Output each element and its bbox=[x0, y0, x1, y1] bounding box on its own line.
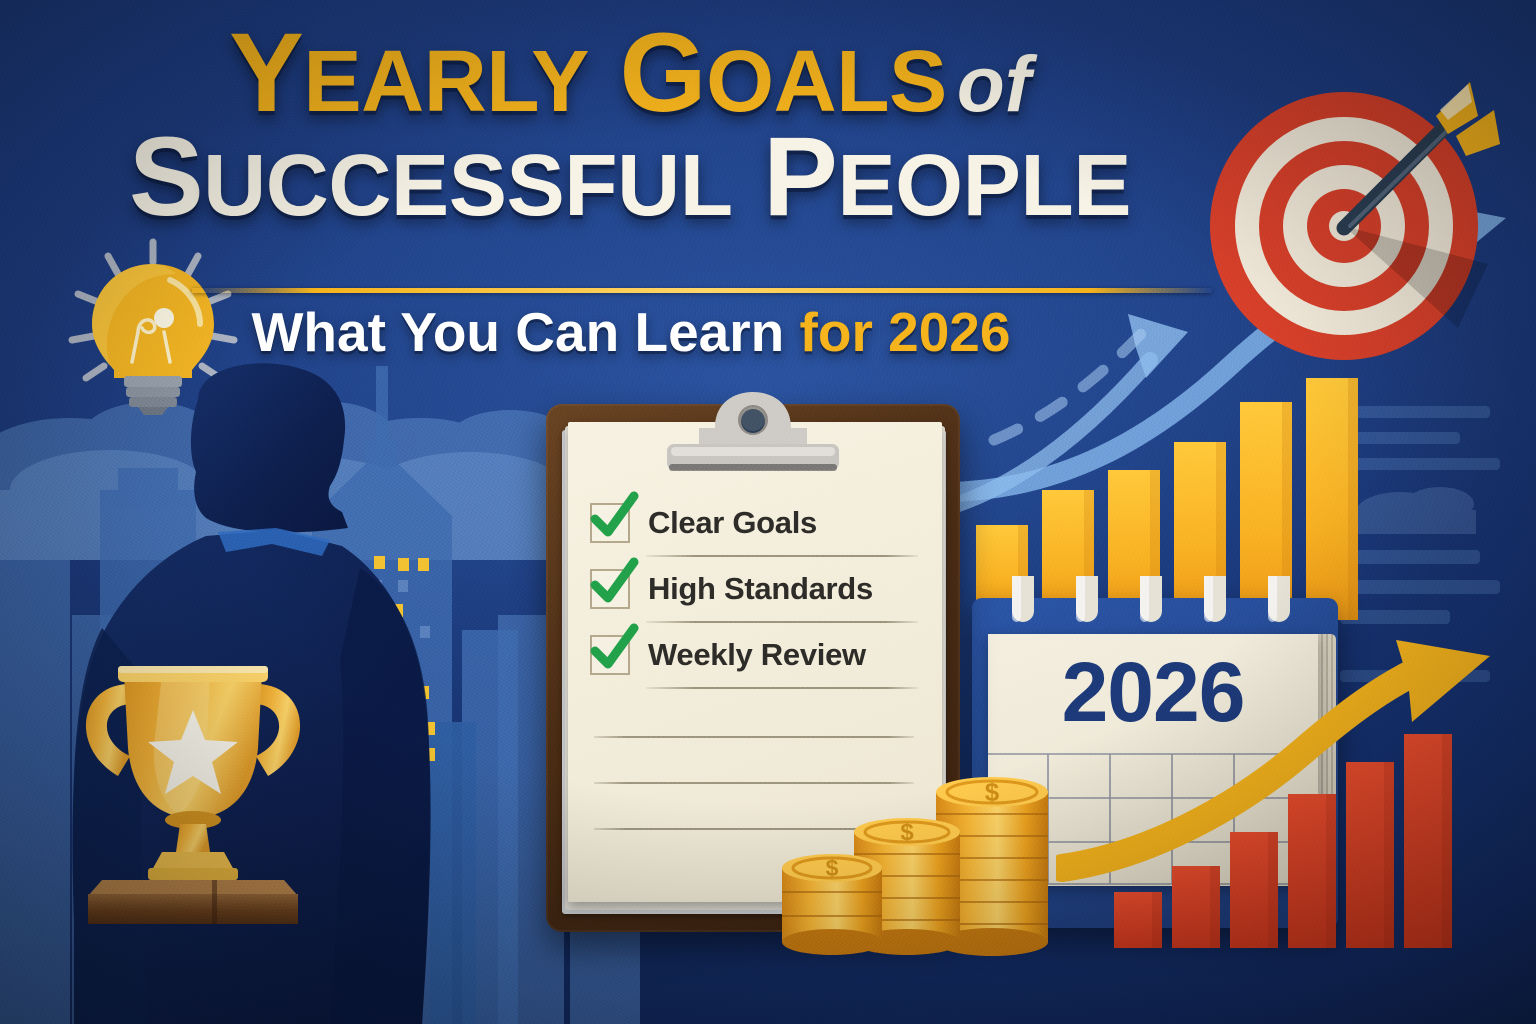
list-item-underline bbox=[646, 555, 918, 557]
list-item-label: High Standards bbox=[648, 571, 873, 607]
page-subtitle: What You Can Learn for 2026 bbox=[0, 300, 1262, 364]
calendar-spiral-rings-icon bbox=[972, 576, 1338, 640]
page-title-line2: SUCCESSFUL PEOPLE bbox=[0, 122, 1260, 232]
clipboard-clip-icon bbox=[653, 390, 853, 476]
checkbox-high-standards[interactable] bbox=[590, 569, 630, 609]
title-word-successful-rest: UCCESSFUL bbox=[203, 136, 732, 234]
page-title-line1: YEARLY GOALSof bbox=[0, 18, 1260, 128]
list-item[interactable]: Clear Goals bbox=[590, 494, 918, 552]
title-word-goals: G bbox=[589, 10, 706, 135]
svg-text:$: $ bbox=[826, 855, 839, 881]
check-icon bbox=[587, 555, 641, 609]
svg-text:$: $ bbox=[985, 777, 1000, 807]
list-item[interactable]: High Standards bbox=[590, 560, 918, 618]
subtitle-white-part: What You Can Learn bbox=[252, 301, 785, 363]
title-divider-rule bbox=[192, 288, 1212, 293]
title-word-yearly-rest: EARLY bbox=[303, 32, 589, 130]
poster-canvas: 2026 bbox=[0, 0, 1536, 1024]
list-item-label: Weekly Review bbox=[648, 637, 866, 673]
title-word-people-rest: EOPLE bbox=[837, 136, 1131, 234]
subtitle-gold-part: for 2026 bbox=[800, 301, 1011, 363]
coin-stacks-icon: $ $ $ bbox=[778, 752, 1054, 958]
checkbox-weekly-review[interactable] bbox=[590, 635, 630, 675]
title-word-yearly: Y bbox=[229, 10, 303, 135]
trophy-icon bbox=[62, 628, 324, 924]
title-word-successful: S bbox=[129, 114, 203, 239]
list-item-label: Clear Goals bbox=[648, 505, 817, 541]
list-item-underline bbox=[646, 621, 918, 623]
check-icon bbox=[587, 621, 641, 675]
gold-growth-arrow-icon bbox=[1056, 640, 1496, 900]
svg-text:$: $ bbox=[900, 819, 914, 846]
check-icon bbox=[587, 489, 641, 543]
title-word-of: of bbox=[947, 40, 1031, 128]
list-item[interactable]: Weekly Review bbox=[590, 626, 918, 684]
list-item-underline bbox=[646, 687, 918, 689]
title-block: YEARLY GOALSof SUCCESSFUL PEOPLE bbox=[0, 18, 1260, 232]
checkbox-clear-goals[interactable] bbox=[590, 503, 630, 543]
title-word-people: P bbox=[733, 114, 838, 239]
